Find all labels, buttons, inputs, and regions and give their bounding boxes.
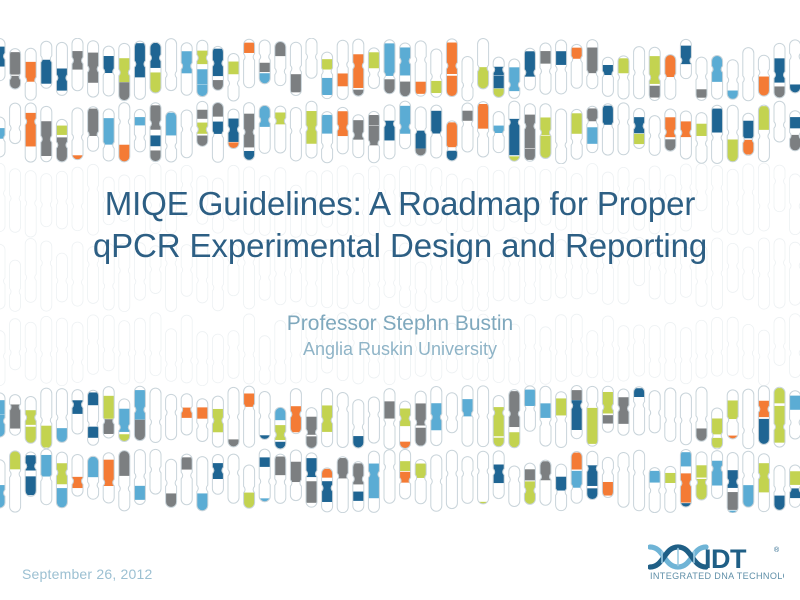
presenter-name: Professor Stephn Bustin (0, 311, 800, 337)
chromosome-band-bottom-graphic (0, 385, 800, 513)
chromosome-band-top (0, 38, 800, 164)
presentation-slide: MIQE Guidelines: A Roadmap for ProperqPC… (0, 0, 800, 600)
title-block: MIQE Guidelines: A Roadmap for ProperqPC… (0, 183, 800, 267)
idt-trademark-icon: ® (774, 546, 780, 554)
chromosome-band-bottom (0, 385, 800, 513)
idt-wordmark: IDT (704, 544, 747, 574)
idt-tagline: INTEGRATED DNA TECHNOLOGIES (650, 571, 784, 581)
slide-title-line-2: qPCR Experimental Design and Reporting (93, 227, 707, 264)
idt-logo-graphic: IDT ® INTEGRATED DNA TECHNOLOGIES (648, 541, 784, 581)
slide-title: MIQE Guidelines: A Roadmap for ProperqPC… (0, 183, 800, 267)
presenter-affiliation: Anglia Ruskin University (0, 339, 800, 361)
idt-logo: IDT ® INTEGRATED DNA TECHNOLOGIES (648, 541, 784, 581)
slide-date: September 26, 2012 (22, 566, 152, 582)
subtitle-block: Professor Stephn Bustin Anglia Ruskin Un… (0, 311, 800, 361)
slide-title-line-1: MIQE Guidelines: A Roadmap for Proper (105, 185, 696, 222)
chromosome-band-top-graphic (0, 38, 800, 164)
dna-helix-icon (650, 547, 706, 567)
